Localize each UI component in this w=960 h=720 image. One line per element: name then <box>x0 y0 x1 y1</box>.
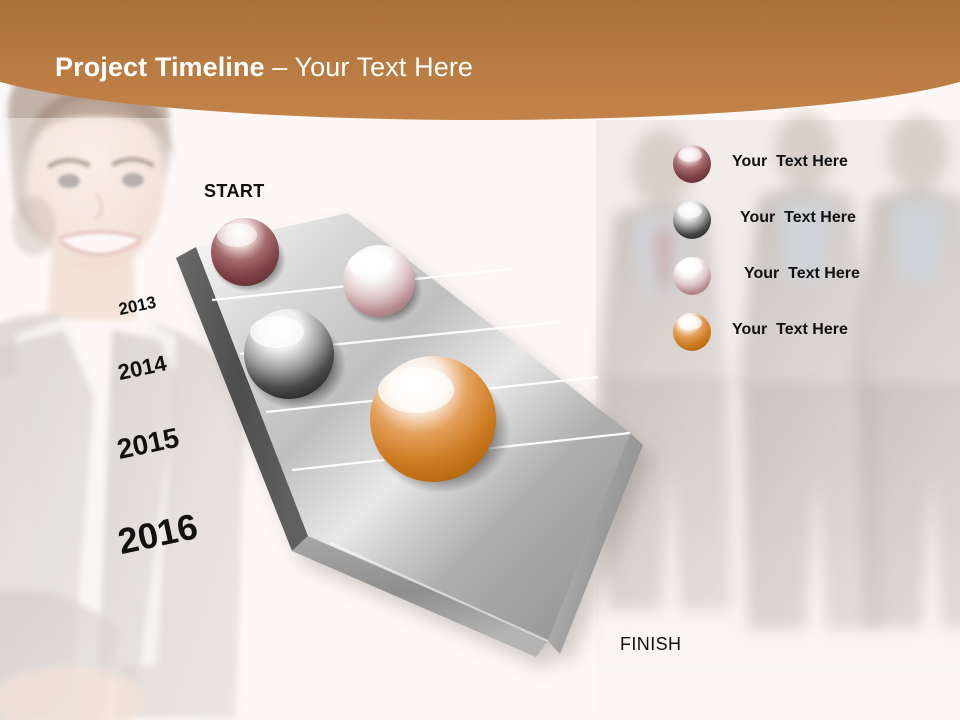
milestone-1[interactable] <box>211 218 286 292</box>
legend-label-3: Your Text Here <box>744 265 860 283</box>
legend-label-1: Your Text Here <box>732 153 848 171</box>
legend-label-4: Your Text Here <box>732 321 848 339</box>
powerpoint-slide: Project Timeline – Your Text Here <box>0 0 960 720</box>
legend-item-3[interactable]: Your Text Here <box>672 256 952 296</box>
finish-label: FINISH <box>620 634 681 655</box>
legend-item-1[interactable]: Your Text Here <box>672 144 952 184</box>
legend-item-2[interactable]: Your Text Here <box>672 200 952 240</box>
legend-bullet-dark <box>672 200 712 240</box>
milestone-2[interactable] <box>343 245 422 324</box>
legend-item-4[interactable]: Your Text Here <box>672 312 952 352</box>
legend-bullet-orange <box>672 312 712 352</box>
legend-bullet-silver <box>672 256 712 296</box>
legend-bullet-maroon <box>672 144 712 184</box>
legend-label-2: Your Text Here <box>740 209 856 227</box>
start-label: START <box>204 181 265 202</box>
